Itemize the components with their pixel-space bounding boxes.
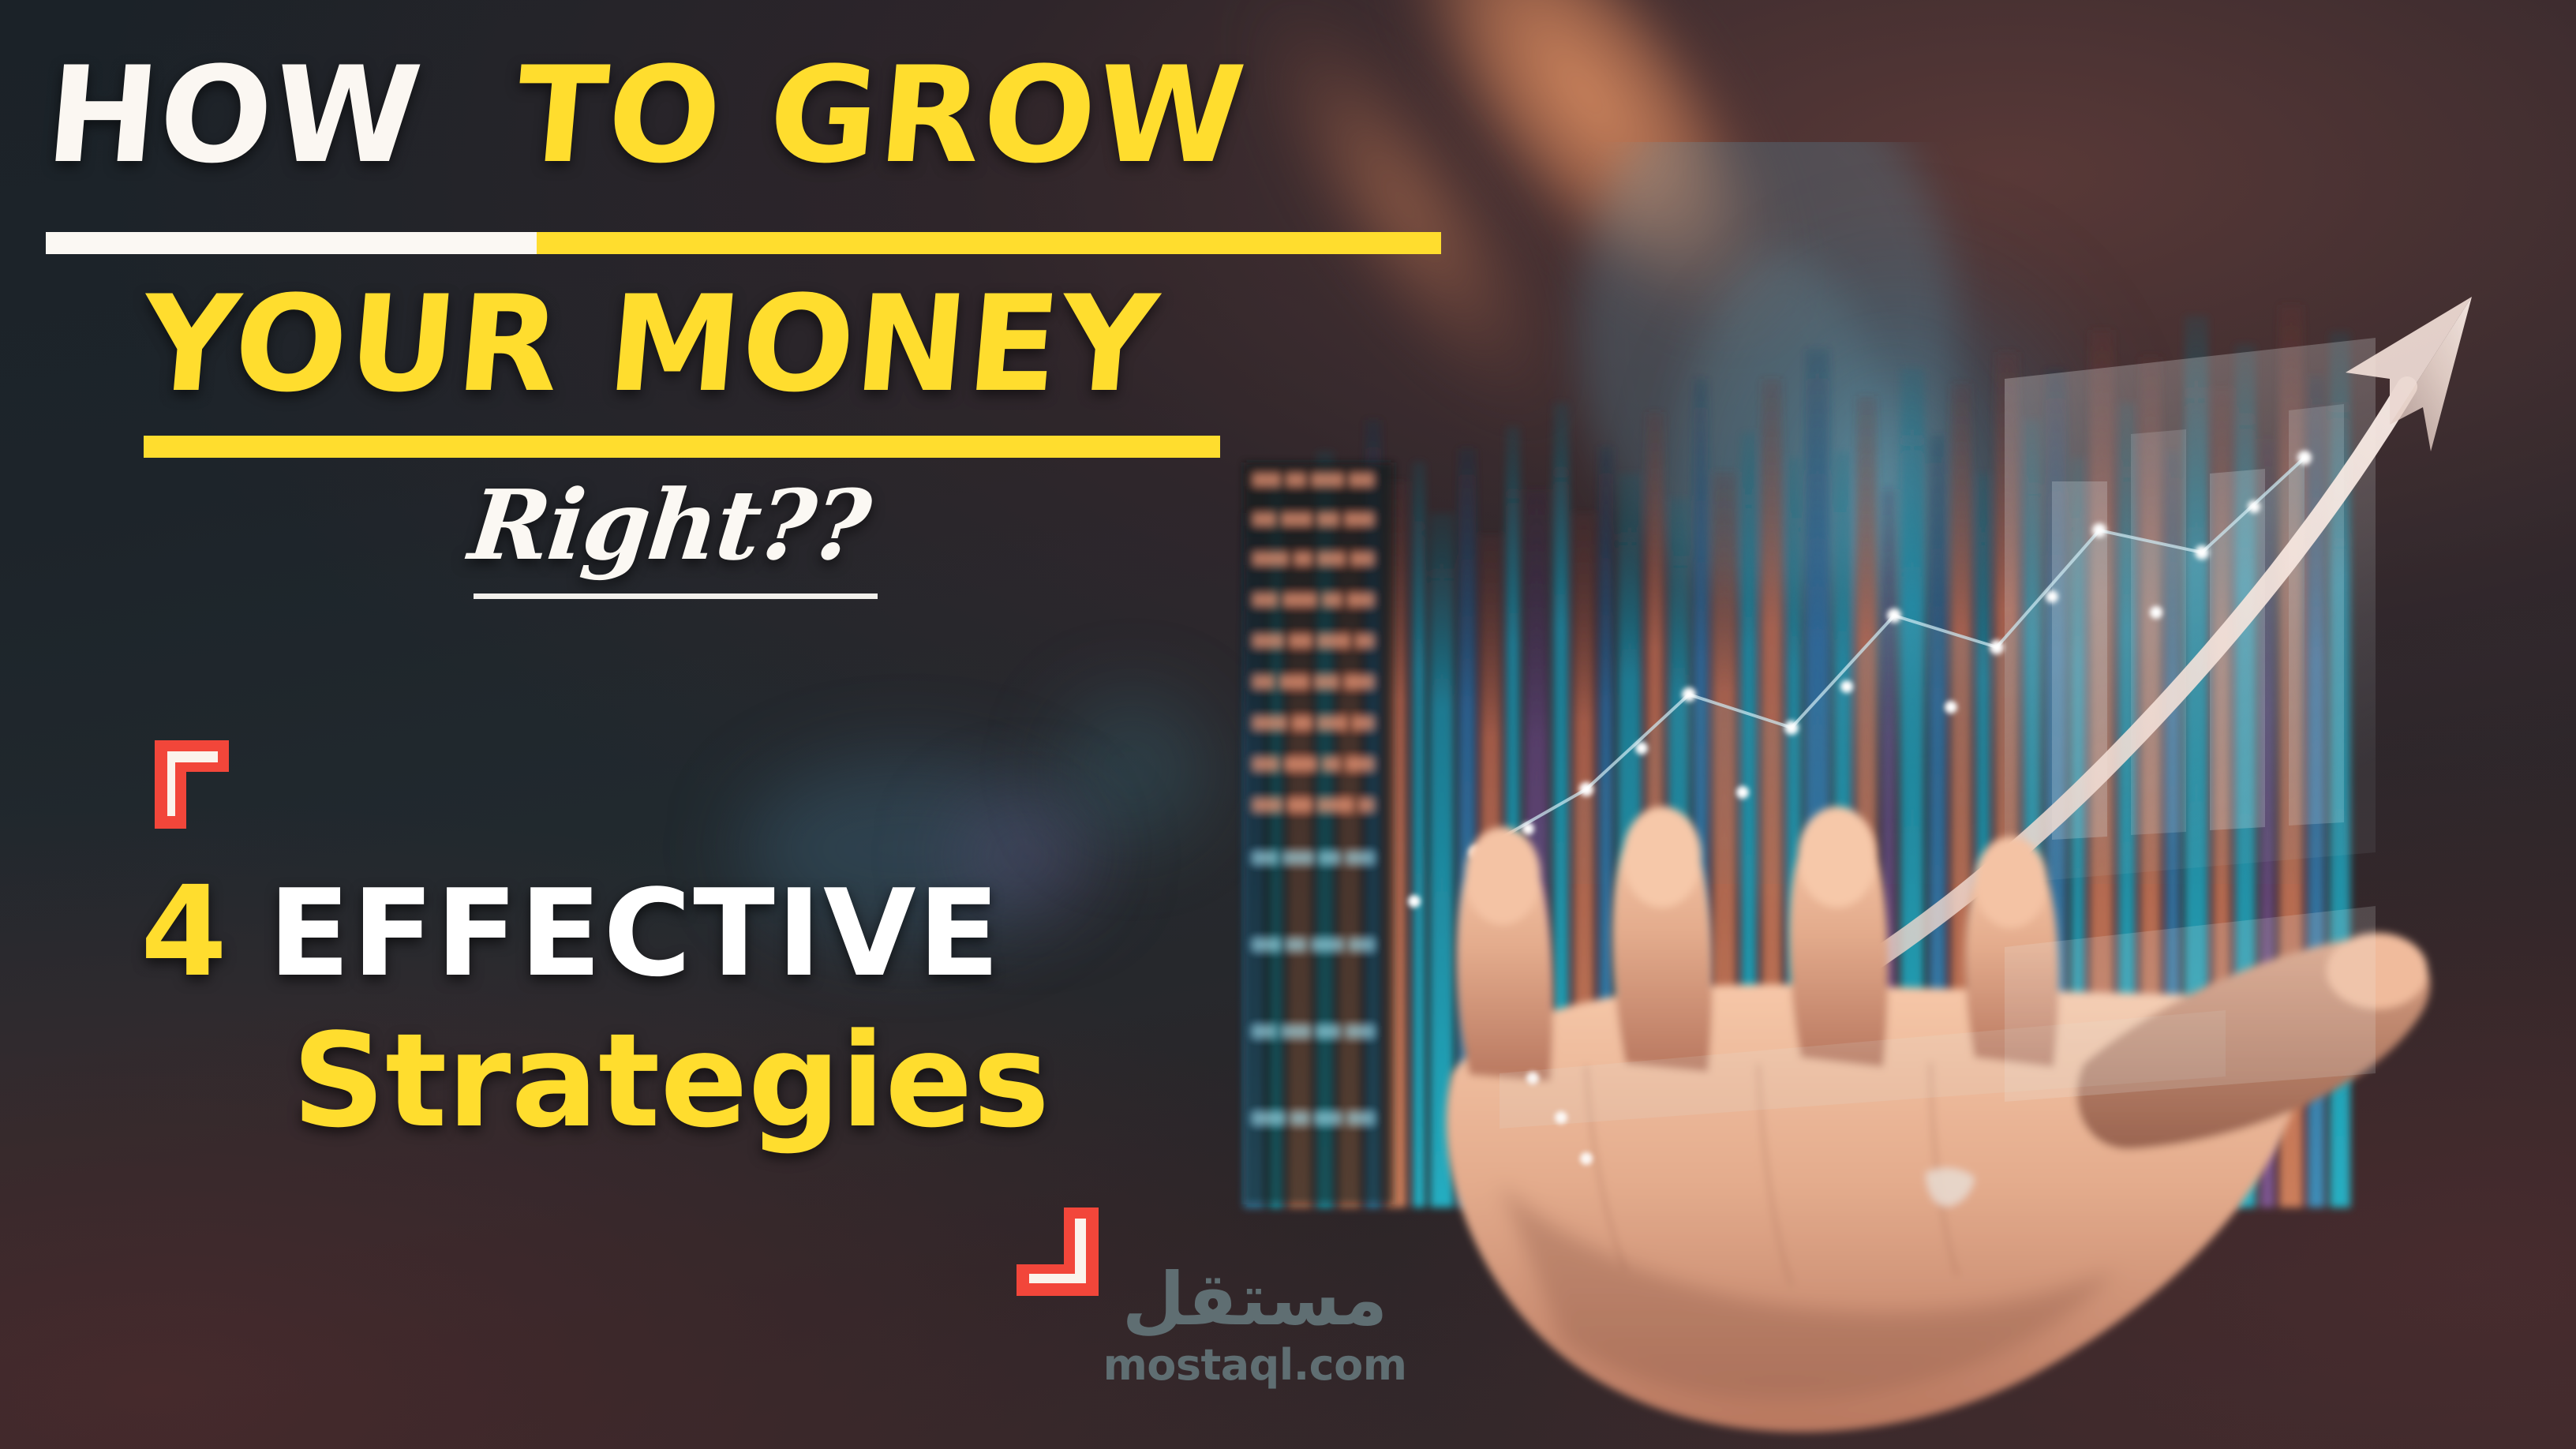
background-glow-blob (1058, 695, 1207, 844)
subhead-number: 4 (140, 859, 227, 1005)
poster-canvas: HOW TO GROW YOUR MONEY Right?? 4EFFECTIV… (0, 0, 2576, 1449)
headline-rule-1 (46, 232, 1441, 254)
corner-bracket-bottom-right-icon (1017, 1207, 1099, 1296)
headline-to-grow: TO GROW (510, 38, 1252, 193)
watermark: مستقل mostaql.com (1089, 1263, 1421, 1391)
headline-how: HOW (40, 38, 428, 193)
headline-line-3-right: Right?? (466, 477, 874, 573)
subhead-line-effective: 4EFFECTIVE (140, 870, 1002, 994)
headline-line-1: HOW TO GROW (42, 49, 1251, 182)
subhead-emphasis: EFFECTIVE (268, 863, 1002, 1003)
subhead-strategies: Strategies (292, 1017, 1050, 1146)
hand-holding-holographic-growth-chart (1215, 142, 2576, 1449)
rule-segment-white (46, 232, 537, 254)
headline-rule-3 (474, 593, 878, 599)
rule-segment-yellow (537, 232, 1441, 254)
headline-rule-2 (144, 436, 1220, 458)
watermark-domain: mostaql.com (1089, 1340, 1421, 1391)
headline-line-2: YOUR MONEY (137, 278, 1163, 410)
watermark-arabic: مستقل (1089, 1263, 1421, 1337)
corner-bracket-top-left-icon (155, 740, 237, 829)
